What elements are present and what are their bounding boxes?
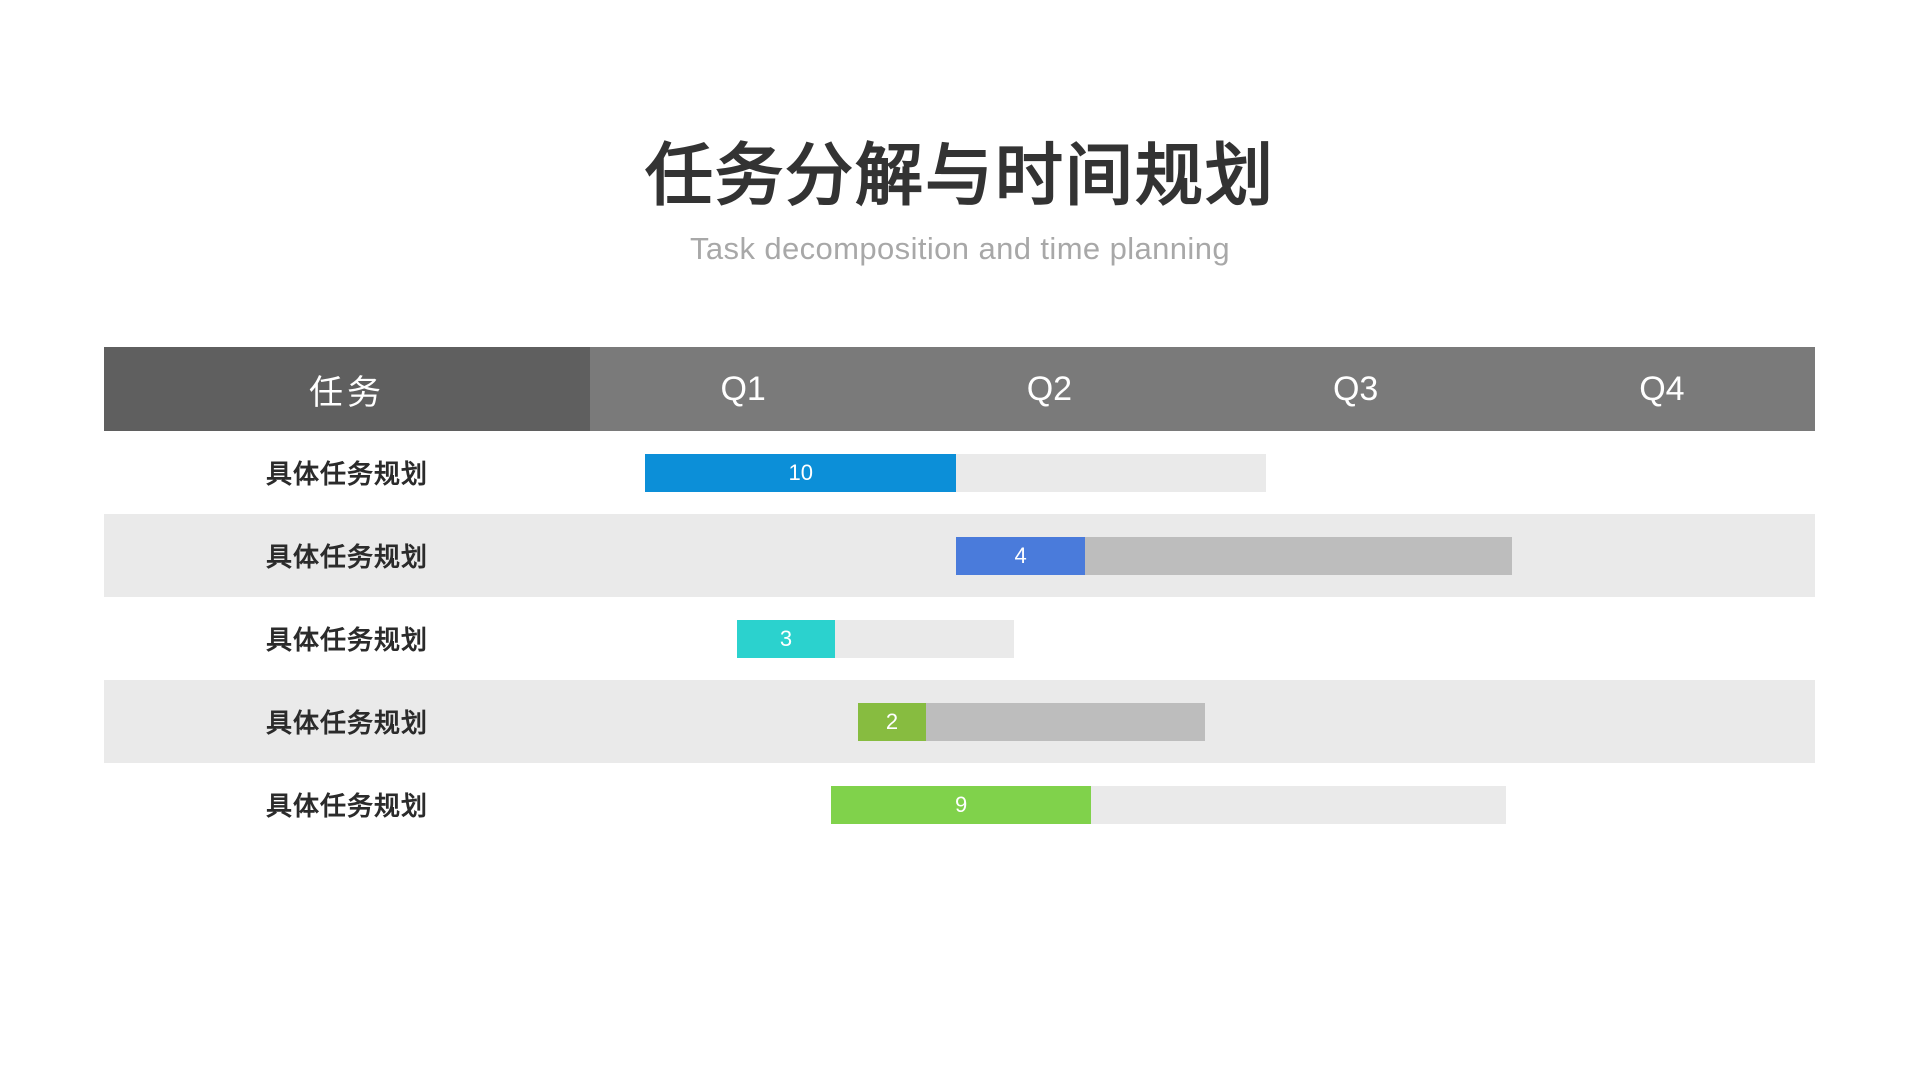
gantt-row: 具体任务规划10	[104, 431, 1815, 514]
gantt-bar-fill[interactable]: 3	[737, 620, 835, 658]
gantt-bar-fill[interactable]: 9	[831, 786, 1091, 824]
gantt-bar-remainder	[1085, 537, 1513, 575]
gantt-bar-fill[interactable]: 4	[956, 537, 1085, 575]
gantt-rows: 具体任务规划10具体任务规划4具体任务规划3具体任务规划2具体任务规划9	[104, 431, 1815, 846]
gantt-bar-group[interactable]: 10	[645, 454, 1266, 492]
gantt-row: 具体任务规划9	[104, 763, 1815, 846]
title-block: 任务分解与时间规划 Task decomposition and time pl…	[0, 140, 1920, 267]
timeline-track: 2	[590, 680, 1815, 763]
gantt-chart: 任务 Q1 Q2 Q3 Q4 具体任务规划10具体任务规划4具体任务规划3具体任…	[104, 347, 1815, 846]
gantt-row: 具体任务规划3	[104, 597, 1815, 680]
gantt-bar-group[interactable]: 9	[831, 786, 1506, 824]
page-subtitle: Task decomposition and time planning	[0, 231, 1920, 267]
header-task-column: 任务	[104, 347, 590, 431]
header-quarter-columns: Q1 Q2 Q3 Q4	[590, 347, 1815, 431]
gantt-bar-remainder	[926, 703, 1205, 741]
header-quarter-q4: Q4	[1509, 347, 1815, 431]
gantt-bar-group[interactable]: 3	[737, 620, 1014, 658]
timeline-track: 4	[590, 514, 1815, 597]
gantt-bar-group[interactable]: 2	[858, 703, 1205, 741]
timeline-track: 9	[590, 763, 1815, 846]
task-label: 具体任务规划	[104, 431, 590, 514]
header-quarter-q1: Q1	[590, 347, 896, 431]
header-quarter-q2: Q2	[896, 347, 1202, 431]
task-label: 具体任务规划	[104, 597, 590, 680]
task-label: 具体任务规划	[104, 763, 590, 846]
task-label: 具体任务规划	[104, 680, 590, 763]
gantt-row: 具体任务规划2	[104, 680, 1815, 763]
timeline-track: 10	[590, 431, 1815, 514]
task-label: 具体任务规划	[104, 514, 590, 597]
gantt-header-row: 任务 Q1 Q2 Q3 Q4	[104, 347, 1815, 431]
gantt-bar-remainder	[956, 454, 1266, 492]
gantt-bar-remainder	[835, 620, 1014, 658]
header-quarter-q3: Q3	[1203, 347, 1509, 431]
gantt-row: 具体任务规划4	[104, 514, 1815, 597]
gantt-bar-fill[interactable]: 2	[858, 703, 925, 741]
gantt-bar-remainder	[1091, 786, 1506, 824]
page-title: 任务分解与时间规划	[0, 140, 1920, 213]
gantt-bar-group[interactable]: 4	[956, 537, 1512, 575]
timeline-track: 3	[590, 597, 1815, 680]
gantt-bar-fill[interactable]: 10	[645, 454, 956, 492]
